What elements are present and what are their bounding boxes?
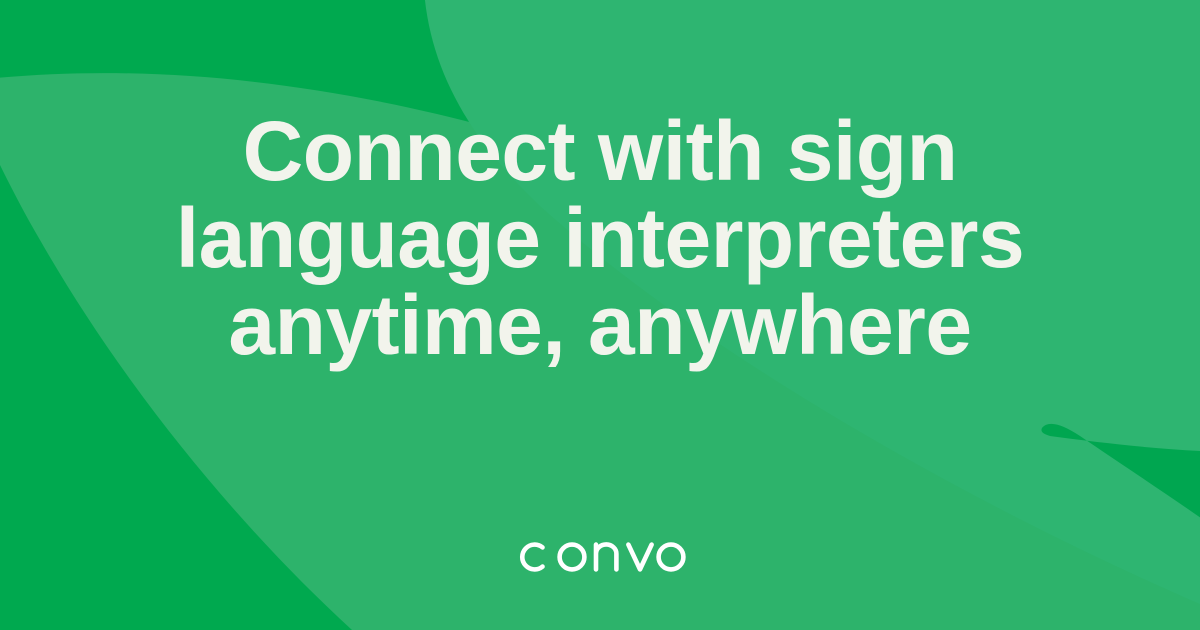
headline-line-2: language interpreters (0, 195, 1200, 282)
convo-wordmark-icon (514, 534, 686, 580)
headline-line-1: Connect with sign (0, 108, 1200, 195)
brand-logo: convo (0, 534, 1200, 580)
card-content: Connect with sign language interpreters … (0, 0, 1200, 630)
share-card: Connect with sign language interpreters … (0, 0, 1200, 630)
headline-line-3: anytime, anywhere (0, 282, 1200, 369)
page-title: Connect with sign language interpreters … (0, 108, 1200, 369)
